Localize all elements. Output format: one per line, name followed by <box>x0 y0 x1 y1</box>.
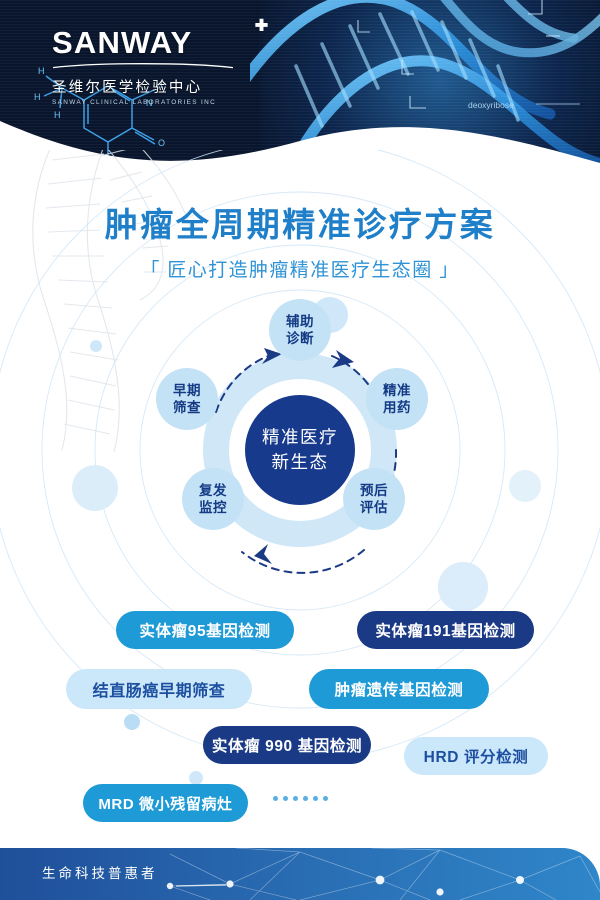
product-pill-colorectal-early-screening[interactable]: 结直肠癌早期筛查 <box>66 669 252 709</box>
footer-slogan: 生命科技普惠者 <box>42 862 158 882</box>
node-label-line1: 早期 <box>173 382 201 399</box>
brand-logo: SANWAY 圣维尔医学检验中心 SANWAY CLINICAL LABORAT… <box>52 27 252 106</box>
product-pill-solid-tumor-191[interactable]: 实体瘤191基因检测 <box>357 611 534 649</box>
logo-swoosh-divider <box>53 62 233 69</box>
node-label-line1: 复发 <box>199 482 227 499</box>
header-banner: deoxyribose guanine <box>0 0 600 175</box>
core-line-2: 新生态 <box>272 450 329 475</box>
medical-cross-icon <box>254 18 269 33</box>
diagram-node-auxiliary-diagnosis[interactable]: 辅助 诊断 <box>269 299 331 361</box>
diagram-node-prognosis-evaluation[interactable]: 预后 评估 <box>343 468 405 530</box>
product-list-ellipsis <box>273 796 328 801</box>
product-pill-hrd-score[interactable]: HRD 评分检测 <box>404 737 548 775</box>
core-line-1: 精准医疗 <box>262 425 338 450</box>
diagram-node-recurrence-monitoring[interactable]: 复发 监控 <box>182 468 244 530</box>
product-pill-solid-tumor-990[interactable]: 实体瘤 990 基因检测 <box>203 726 371 764</box>
node-label-line2: 用药 <box>383 399 411 416</box>
node-label-line2: 诊断 <box>286 330 314 347</box>
node-label-line2: 筛查 <box>173 399 201 416</box>
diagram-core: 精准医疗 新生态 <box>245 395 355 505</box>
ecosystem-diagram: 精准医疗 新生态 辅助 诊断 精准 用药 预后 评估 复发 监控 早期 筛查 <box>150 300 450 600</box>
diagram-node-early-screening[interactable]: 早期 筛查 <box>156 368 218 430</box>
node-label-line2: 评估 <box>360 499 388 516</box>
brand-wordmark: SANWAY <box>52 27 192 58</box>
footer-bar: 生命科技普惠者 <box>0 840 600 900</box>
brand-name-cn: 圣维尔医学检验中心 <box>52 76 252 97</box>
arrow-path-left-to-top <box>216 356 268 412</box>
node-label-line2: 监控 <box>199 499 227 516</box>
page-title: 肿瘤全周期精准诊疗方案 <box>0 206 600 244</box>
svg-text:H: H <box>38 66 45 76</box>
node-label-line1: 辅助 <box>286 313 314 330</box>
diagram-node-precision-medication[interactable]: 精准 用药 <box>366 368 428 430</box>
product-pill-solid-tumor-95[interactable]: 实体瘤95基因检测 <box>116 611 294 649</box>
svg-text:H: H <box>34 92 41 102</box>
product-pill-tumor-hereditary-gene[interactable]: 肿瘤遗传基因检测 <box>309 669 489 709</box>
node-label-line1: 预后 <box>360 482 388 499</box>
poster-root: deoxyribose guanine <box>0 0 600 900</box>
page-subtitle: 「 匠心打造肿瘤精准医疗生态圈 」 <box>0 255 600 282</box>
product-pill-mrd[interactable]: MRD 微小残留病灶 <box>83 784 248 822</box>
node-label-line1: 精准 <box>383 382 411 399</box>
title-block: 肿瘤全周期精准诊疗方案 「 匠心打造肿瘤精准医疗生态圈 」 <box>0 206 600 282</box>
